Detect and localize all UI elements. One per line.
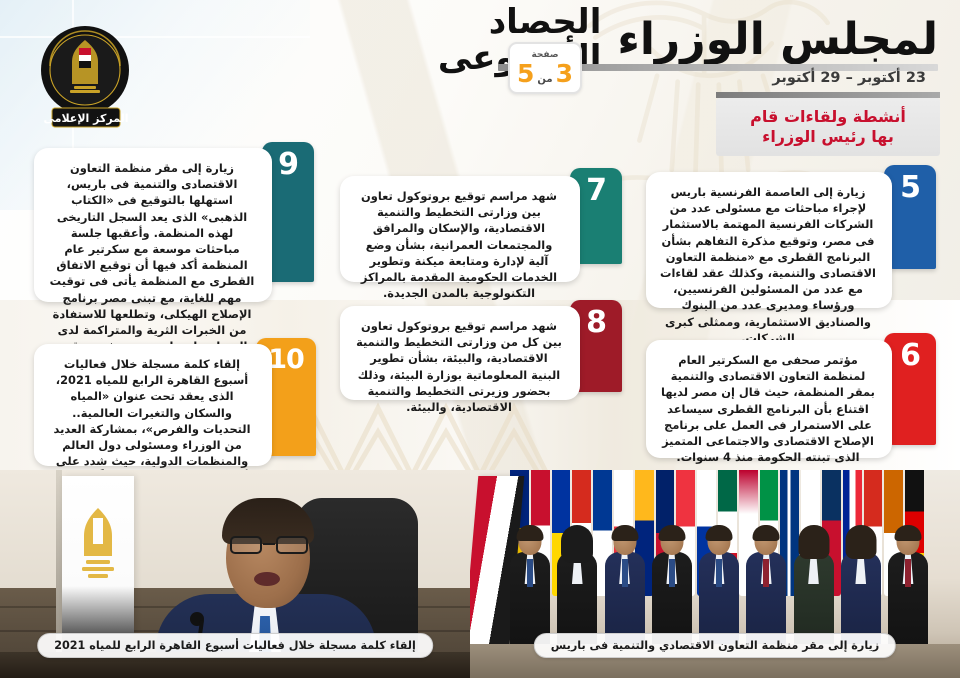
card-number-5: 5	[900, 173, 920, 203]
page-badge-of: من	[537, 74, 552, 85]
card-text-9: زيارة إلى مقر منظمة التعاون الاقتصادى وا…	[48, 160, 256, 370]
photo-oecd-visit: زيارة إلى مقر منظمة التعاون الاقتصادي وا…	[470, 470, 960, 678]
card-text-5: زيارة إلى العاصمة الفرنسية باريس لإجراء …	[660, 184, 876, 346]
card-text-6: مؤتمر صحفى مع السكرتير العام لمنظمة التع…	[660, 352, 876, 465]
page-badge-numbers: 3 من 5	[517, 61, 573, 86]
card-number-10: 10	[268, 346, 304, 373]
header-title-line1: الحصاد	[489, 2, 602, 42]
card-item-5[interactable]: زيارة إلى العاصمة الفرنسية باريس لإجراء …	[646, 172, 892, 308]
card-number-9: 9	[278, 150, 298, 180]
header-date-range: 23 أكتوبر – 29 أكتوبر	[772, 70, 926, 86]
card-text-8: شهد مراسم توقيع بروتوكول تعاون بين كل من…	[354, 318, 564, 415]
card-number-7: 7	[586, 176, 606, 206]
header-title-big: لمجلس الوزراء	[617, 18, 938, 62]
section-title-text: أنشطة ولقاءات قام بها رئيس الوزراء	[728, 107, 928, 148]
card-item-8[interactable]: شهد مراسم توقيع بروتوكول تعاون بين كل من…	[340, 306, 580, 400]
card-text-7: شهد مراسم توقيع بروتوكول تعاون بين وزارت…	[354, 188, 564, 301]
photo-caption-right: زيارة إلى مقر منظمة التعاون الاقتصادي وا…	[534, 633, 896, 658]
page-number-badge: صفحة 3 من 5	[508, 42, 582, 94]
card-number-8: 8	[586, 308, 606, 338]
card-item-10[interactable]: إلقاء كلمة مسجلة خلال فعاليات أسبوع القا…	[34, 344, 272, 466]
page-badge-label: صفحة	[531, 51, 558, 60]
page-badge-current: 3	[556, 61, 573, 86]
government-emblem: المركز الإعلامى	[34, 22, 136, 130]
card-item-7[interactable]: شهد مراسم توقيع بروتوكول تعاون بين وزارت…	[340, 176, 580, 282]
svg-text:المركز الإعلامى: المركز الإعلامى	[44, 112, 129, 125]
glasses-icon	[230, 536, 308, 554]
infographic-page: المركز الإعلامى لمجلس الوزراء الحصاد الأ…	[0, 0, 960, 678]
photo-strip: إلقاء كلمة مسجلة خلال فعاليات أسبوع القا…	[0, 470, 960, 678]
card-number-6: 6	[900, 341, 920, 371]
card-item-9[interactable]: زيارة إلى مقر منظمة التعاون الاقتصادى وا…	[34, 148, 272, 302]
page-header: لمجلس الوزراء الحصاد الأسبوعى 23 أكتوبر …	[340, 0, 960, 100]
card-item-6[interactable]: مؤتمر صحفى مع السكرتير العام لمنظمة التع…	[646, 340, 892, 458]
section-title-line2: بها رئيس الوزراء	[728, 127, 928, 147]
photo-pm-speech: إلقاء كلمة مسجلة خلال فعاليات أسبوع القا…	[0, 470, 470, 678]
section-title-line1: أنشطة ولقاءات قام	[750, 107, 906, 126]
page-badge-total: 5	[517, 61, 534, 86]
photo-caption-left: إلقاء كلمة مسجلة خلال فعاليات أسبوع القا…	[37, 633, 433, 658]
section-title-banner: أنشطة ولقاءات قام بها رئيس الوزراء	[716, 98, 940, 156]
